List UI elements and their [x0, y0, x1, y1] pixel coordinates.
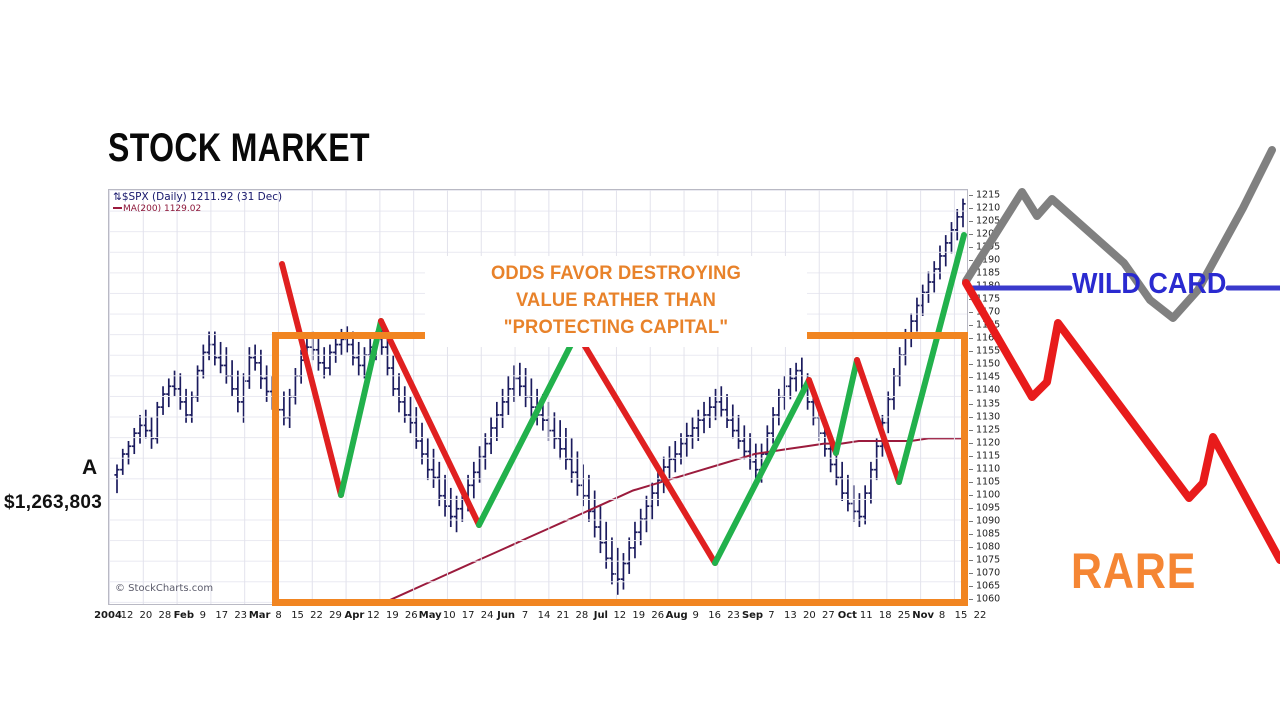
x-axis-tick-label: 17: [215, 610, 228, 621]
x-axis-tick-label: Feb: [174, 610, 194, 621]
chart-legend-line2: MA(200) 1129.02: [113, 204, 282, 216]
x-axis-tick-label: 8: [939, 610, 945, 621]
x-axis-tick-label: Jul: [594, 610, 608, 621]
y-axis-tick: [969, 195, 973, 196]
y-axis-tick-label: 1185: [976, 269, 1000, 278]
y-axis-tick-label: 1175: [976, 295, 1000, 304]
highlight-box: [272, 332, 968, 606]
x-axis-tick-label: 21: [557, 610, 570, 621]
y-axis-tick-label: 1065: [976, 581, 1000, 590]
x-axis-tick-label: 23: [727, 610, 740, 621]
x-axis-tick-label: 12: [121, 610, 134, 621]
x-axis-tick-label: 13: [784, 610, 797, 621]
y-axis-tick-label: 1215: [976, 191, 1000, 200]
y-axis-tick-label: 1150: [976, 360, 1000, 369]
x-axis-tick-label: 12: [367, 610, 380, 621]
x-axis-tick-label: 24: [481, 610, 494, 621]
x-axis-tick-label: Aug: [666, 610, 688, 621]
y-axis-tick-label: 1090: [976, 516, 1000, 525]
y-axis-tick-label: 1200: [976, 230, 1000, 239]
x-axis-tick-label: 20: [140, 610, 153, 621]
y-axis-tick: [969, 234, 973, 235]
x-axis-tick-label: 10: [443, 610, 456, 621]
x-axis-tick-label: 19: [632, 610, 645, 621]
y-axis-tick-label: 1060: [976, 595, 1000, 604]
x-axis-tick-label: 27: [822, 610, 835, 621]
y-axis-tick: [969, 599, 973, 600]
rare-label: RARE: [1071, 542, 1196, 600]
callout-line-2: VALUE RATHER THAN: [442, 287, 790, 314]
y-axis-tick: [969, 521, 973, 522]
y-axis-tick: [969, 586, 973, 587]
y-axis-tick: [969, 495, 973, 496]
y-axis-tick: [969, 417, 973, 418]
y-axis-tick: [969, 208, 973, 209]
y-axis-tick-label: 1210: [976, 204, 1000, 213]
y-axis-tick: [969, 325, 973, 326]
y-axis: 1215121012051200119511901185118011751170…: [969, 189, 1011, 605]
wild-card-label: WILD CARD: [1072, 268, 1226, 301]
y-axis-tick-label: 1085: [976, 529, 1000, 538]
y-axis-tick-label: 1140: [976, 386, 1000, 395]
x-axis-tick-label: Sep: [742, 610, 763, 621]
portfolio-value-label: $1,263,803: [4, 492, 102, 514]
y-axis-tick: [969, 377, 973, 378]
y-axis-tick-label: 1155: [976, 347, 1000, 356]
x-axis-tick-label: Apr: [345, 610, 365, 621]
x-axis-tick-label: 9: [200, 610, 206, 621]
y-axis-tick-label: 1195: [976, 243, 1000, 252]
callout-text: ODDS FAVOR DESTROYING VALUE RATHER THAN …: [425, 256, 807, 347]
y-axis-tick: [969, 547, 973, 548]
y-axis-tick: [969, 247, 973, 248]
y-axis-tick-label: 1120: [976, 438, 1000, 447]
y-axis-tick-label: 1110: [976, 464, 1000, 473]
chart-legend-line1: ⇅$SPX (Daily) 1211.92 (31 Dec): [113, 192, 282, 204]
x-axis-tick-label: 8: [275, 610, 281, 621]
x-axis-tick-label: Jun: [497, 610, 515, 621]
x-axis-tick-label: 26: [405, 610, 418, 621]
x-axis-tick-label: 12: [613, 610, 626, 621]
y-axis-tick: [969, 482, 973, 483]
y-axis-tick: [969, 469, 973, 470]
x-axis-tick-label: 7: [768, 610, 774, 621]
y-axis-tick-label: 1190: [976, 256, 1000, 265]
y-axis-tick: [969, 390, 973, 391]
y-axis-tick: [969, 560, 973, 561]
y-axis-tick: [969, 260, 973, 261]
y-axis-tick: [969, 443, 973, 444]
y-axis-tick: [969, 456, 973, 457]
x-axis-tick-label: 22: [310, 610, 323, 621]
x-axis-tick-label: 22: [974, 610, 987, 621]
x-axis-tick-label: 16: [708, 610, 721, 621]
x-axis: 2004122028Feb91723Mar8152229Apr121926May…: [95, 610, 995, 630]
x-axis-tick-label: 2004: [94, 610, 122, 621]
y-axis-tick: [969, 299, 973, 300]
x-axis-tick-label: 26: [651, 610, 664, 621]
callout-line-3: "PROTECTING CAPITAL": [442, 314, 790, 341]
screenshot-stage: STOCK MARKET A $1,263,803: [0, 0, 1280, 720]
x-axis-tick-label: 19: [386, 610, 399, 621]
x-axis-tick-label: 15: [955, 610, 968, 621]
y-axis-tick-label: 1180: [976, 282, 1000, 291]
y-axis-tick: [969, 508, 973, 509]
y-axis-tick: [969, 364, 973, 365]
x-axis-tick-label: Mar: [249, 610, 271, 621]
y-axis-tick: [969, 286, 973, 287]
y-axis-tick-label: 1205: [976, 217, 1000, 226]
y-axis-tick-label: 1075: [976, 555, 1000, 564]
y-axis-tick: [969, 404, 973, 405]
y-axis-tick-label: 1070: [976, 568, 1000, 577]
y-axis-tick-label: 1160: [976, 334, 1000, 343]
x-axis-tick-label: 25: [898, 610, 911, 621]
stockcharts-watermark: © StockCharts.com: [115, 583, 213, 594]
y-axis-tick-label: 1130: [976, 412, 1000, 421]
y-axis-tick-label: 1170: [976, 308, 1000, 317]
y-axis-tick: [969, 338, 973, 339]
x-axis-tick-label: 17: [462, 610, 475, 621]
x-axis-tick-label: 29: [329, 610, 342, 621]
y-axis-tick-label: 1080: [976, 542, 1000, 551]
bearish-projection-line: [966, 283, 1280, 560]
x-axis-tick-label: Nov: [912, 610, 934, 621]
y-axis-tick: [969, 573, 973, 574]
x-axis-tick-label: 18: [879, 610, 892, 621]
x-axis-tick-label: 28: [158, 610, 171, 621]
x-axis-tick-label: 20: [803, 610, 816, 621]
y-axis-tick-label: 1125: [976, 425, 1000, 434]
x-axis-tick-label: 14: [538, 610, 551, 621]
x-axis-tick-label: May: [419, 610, 442, 621]
y-axis-tick: [969, 273, 973, 274]
chart-legend: ⇅$SPX (Daily) 1211.92 (31 Dec) MA(200) 1…: [113, 192, 282, 215]
y-axis-tick-label: 1165: [976, 321, 1000, 330]
y-axis-tick-label: 1115: [976, 451, 1000, 460]
y-axis-tick: [969, 312, 973, 313]
y-axis-tick: [969, 351, 973, 352]
point-a-label: A: [82, 456, 97, 480]
callout-line-1: ODDS FAVOR DESTROYING: [442, 260, 790, 287]
y-axis-tick: [969, 430, 973, 431]
updown-arrow-icon: ⇅: [113, 191, 122, 203]
y-axis-tick-label: 1145: [976, 373, 1000, 382]
y-axis-tick-label: 1100: [976, 490, 1000, 499]
page-title: STOCK MARKET: [108, 126, 370, 171]
y-axis-tick-label: 1135: [976, 399, 1000, 408]
x-axis-tick-label: 28: [576, 610, 589, 621]
y-axis-tick-label: 1095: [976, 503, 1000, 512]
x-axis-tick-label: 15: [291, 610, 304, 621]
x-axis-tick-label: 7: [522, 610, 528, 621]
ma-line-swatch-icon: [113, 207, 122, 209]
y-axis-tick: [969, 221, 973, 222]
x-axis-tick-label: 23: [234, 610, 247, 621]
x-axis-tick-label: Oct: [838, 610, 857, 621]
x-axis-tick-label: 9: [692, 610, 698, 621]
x-axis-tick-label: 11: [860, 610, 873, 621]
y-axis-tick-label: 1105: [976, 477, 1000, 486]
y-axis-tick: [969, 534, 973, 535]
